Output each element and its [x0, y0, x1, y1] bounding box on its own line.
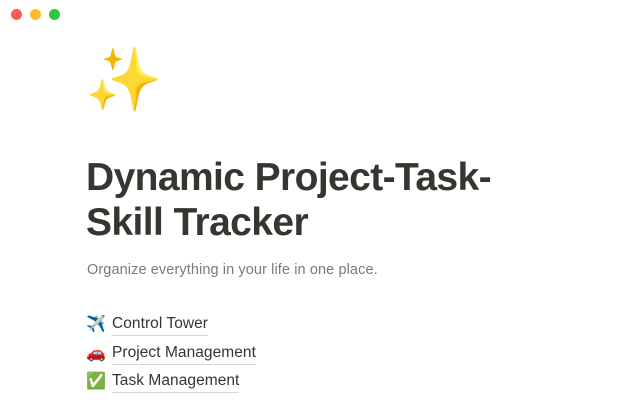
list-item[interactable]: 🚗 Project Management [86, 340, 506, 369]
page-content: ✨ Dynamic Project-Task-Skill Tracker Org… [0, 28, 640, 400]
link-control-tower[interactable]: Control Tower [112, 314, 208, 336]
close-button[interactable] [11, 9, 22, 20]
page-link-list: ✈️ Control Tower 🚗 Project Management ✅ … [86, 311, 506, 397]
car-emoji: 🚗 [86, 346, 105, 362]
app-window: ✨ Dynamic Project-Task-Skill Tracker Org… [0, 0, 640, 400]
link-project-management[interactable]: Project Management [112, 343, 256, 365]
window-titlebar [0, 0, 640, 28]
check-mark-emoji: ✅ [86, 374, 105, 390]
maximize-button[interactable] [49, 9, 60, 20]
list-item[interactable]: ✈️ Control Tower [86, 311, 506, 340]
minimize-button[interactable] [30, 9, 41, 20]
list-item[interactable]: ✅ Task Management [86, 368, 506, 397]
traffic-light-group [11, 9, 60, 20]
page-title[interactable]: Dynamic Project-Task-Skill Tracker [86, 156, 556, 246]
link-task-management[interactable]: Task Management [112, 371, 239, 393]
sparkles-emoji[interactable]: ✨ [85, 50, 162, 112]
page-subtitle[interactable]: Organize everything in your life in one … [87, 260, 378, 282]
airplane-emoji: ✈️ [86, 317, 105, 333]
